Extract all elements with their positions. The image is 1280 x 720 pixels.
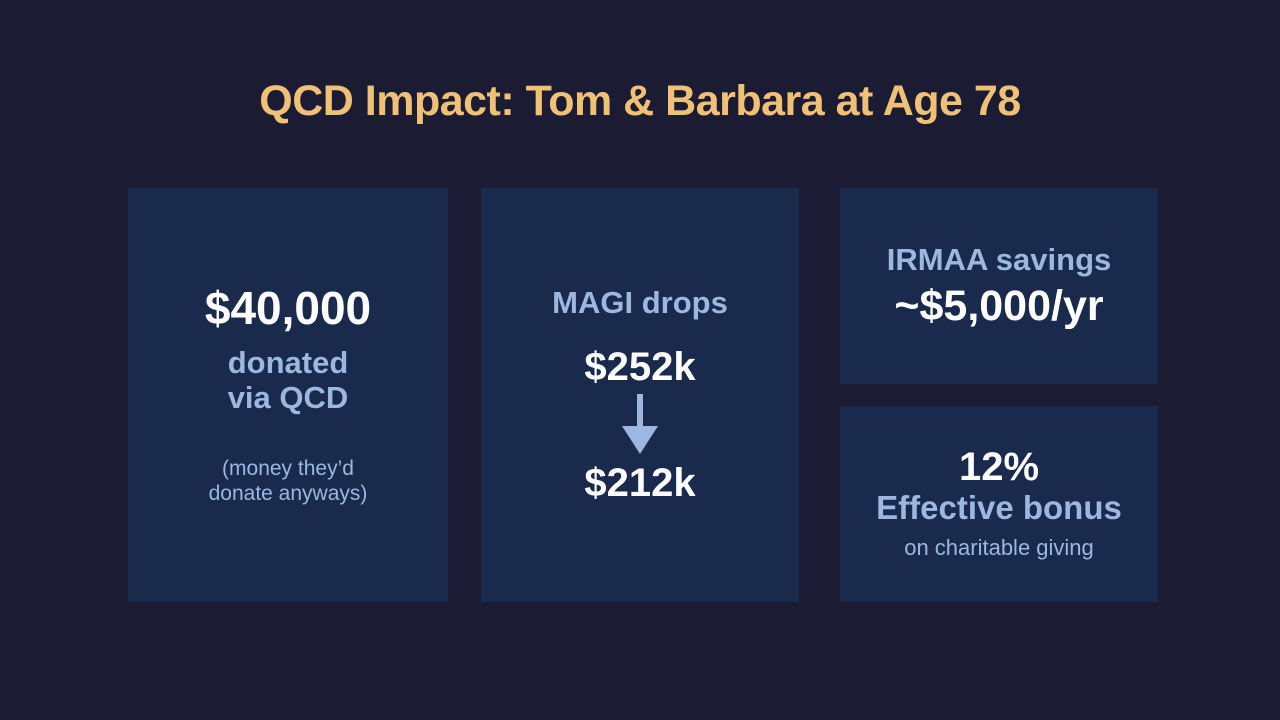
magi-label: MAGI drops: [552, 286, 728, 321]
donation-description: donated via QCD: [228, 346, 349, 415]
donation-description-line2: via QCD: [228, 381, 349, 416]
bonus-sublabel: on charitable giving: [904, 535, 1094, 561]
bonus-percent: 12%: [959, 446, 1039, 488]
bonus-label: Effective bonus: [876, 490, 1122, 527]
donation-note: (money they’d donate anyways): [209, 456, 368, 506]
irmaa-value: ~$5,000/yr: [894, 284, 1103, 329]
donation-amount: $40,000: [205, 284, 371, 332]
magi-from-value: $252k: [584, 346, 695, 388]
donation-note-line1: (money they’d: [209, 456, 368, 481]
arrow-down-icon: [617, 394, 663, 456]
irmaa-label: IRMAA savings: [887, 243, 1112, 278]
card-irmaa: IRMAA savings ~$5,000/yr: [840, 188, 1158, 384]
donation-note-line2: donate anyways): [209, 481, 368, 506]
card-donation: $40,000 donated via QCD (money they’d do…: [128, 188, 448, 602]
card-effective-bonus: 12% Effective bonus on charitable giving: [840, 406, 1158, 602]
donation-description-line1: donated: [228, 346, 349, 381]
magi-to-value: $212k: [584, 462, 695, 504]
page-title: QCD Impact: Tom & Barbara at Age 78: [0, 78, 1280, 125]
card-magi: MAGI drops $252k $212k: [481, 188, 799, 602]
slide-canvas: QCD Impact: Tom & Barbara at Age 78 $40,…: [0, 0, 1280, 720]
